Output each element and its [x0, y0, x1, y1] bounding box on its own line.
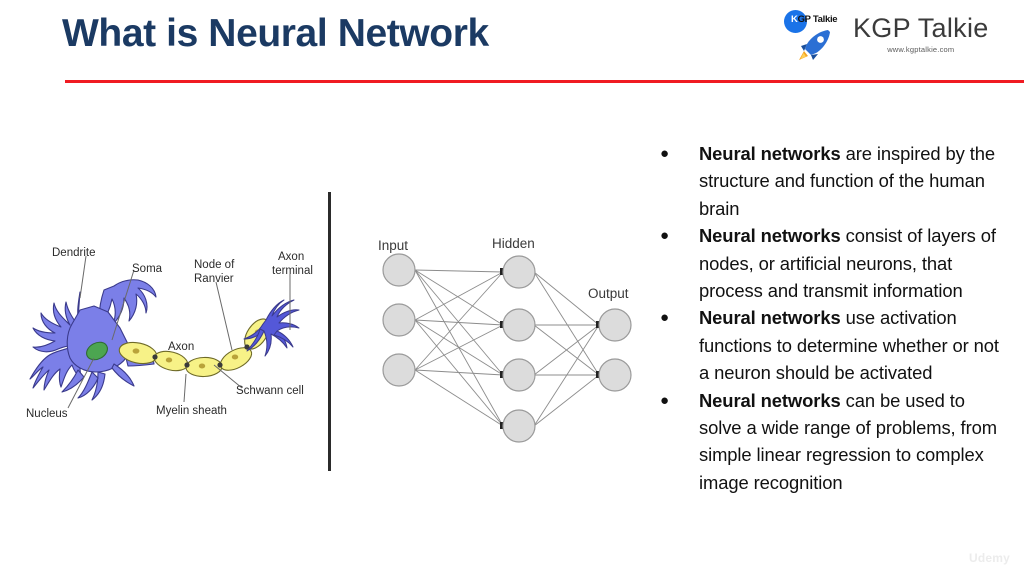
label-hidden-layer: Hidden: [492, 236, 535, 251]
soma-and-dendrites: [30, 280, 156, 400]
hidden-layer-nodes: [503, 256, 535, 442]
label-output-layer: Output: [588, 286, 629, 301]
label-axon-terminal-l2: terminal: [272, 265, 313, 277]
label-input-layer: Input: [378, 238, 408, 253]
neural-network-diagram: Input Hidden Output: [372, 232, 644, 444]
biological-neuron-diagram: Dendrite Soma Nucleus Node of Ranvier Ax…: [8, 232, 323, 428]
label-schwann-cell: Schwann cell: [236, 385, 304, 397]
page-title: What is Neural Network: [62, 12, 489, 56]
bullet-text: Neural networks consist of layers of nod…: [699, 222, 1010, 304]
output-layer-nodes: [599, 309, 631, 391]
label-axon-terminal-l1: Axon: [278, 251, 304, 263]
node-input-2: [383, 304, 415, 336]
list-item: ● Neural networks are inspired by the st…: [655, 140, 1010, 222]
bullet-text: Neural networks use activation functions…: [699, 304, 1010, 386]
node-input-1: [383, 254, 415, 286]
label-axon: Axon: [168, 341, 194, 353]
logo-mark: KGP Talkie: [782, 7, 844, 61]
node-input-3: [383, 354, 415, 386]
badge-text: KGP Talkie: [791, 14, 837, 25]
udemy-watermark: Udemy: [969, 551, 1010, 565]
badge-rest-letters: GP Talkie: [798, 14, 838, 25]
bullet-lead: Neural networks: [699, 225, 841, 246]
rocket-icon: [798, 28, 832, 61]
bullet-text: Neural networks can be used to solve a w…: [699, 387, 1010, 497]
node-output-1: [599, 309, 631, 341]
bullet-lead: Neural networks: [699, 143, 841, 164]
input-layer-nodes: [383, 254, 415, 386]
logo-wordmark: KGP Talkie www.kgptalkie.com: [853, 14, 989, 53]
vertical-panel-divider: [328, 192, 331, 471]
node-hidden-4: [503, 410, 535, 442]
node-hidden-1: [503, 256, 535, 288]
title-divider-rule: [65, 80, 1024, 83]
bullet-text: Neural networks are inspired by the stru…: [699, 140, 1010, 222]
label-nucleus: Nucleus: [26, 408, 68, 420]
connection-terminals: [500, 268, 601, 429]
list-item: ● Neural networks consist of layers of n…: [655, 222, 1010, 304]
bullet-marker-icon: ●: [655, 387, 699, 414]
bullet-marker-icon: ●: [655, 140, 699, 167]
node-output-2: [599, 359, 631, 391]
logo-url: www.kgptalkie.com: [887, 45, 954, 54]
list-item: ● Neural networks can be used to solve a…: [655, 387, 1010, 497]
bullet-lead: Neural networks: [699, 390, 841, 411]
bullet-marker-icon: ●: [655, 222, 699, 249]
label-myelin-sheath: Myelin sheath: [156, 405, 227, 417]
bullet-list: ● Neural networks are inspired by the st…: [655, 140, 1010, 496]
label-node-of-ranvier-l2: Ranvier: [194, 273, 234, 285]
label-soma: Soma: [132, 263, 163, 275]
label-dendrite: Dendrite: [52, 247, 95, 259]
node-hidden-2: [503, 309, 535, 341]
kgp-talkie-logo: KGP Talkie KGP Talkie www.kgptalkie.com: [782, 6, 1018, 62]
edges-input-to-hidden: [415, 270, 503, 426]
list-item: ● Neural networks use activation functio…: [655, 304, 1010, 386]
node-hidden-3: [503, 359, 535, 391]
bullet-lead: Neural networks: [699, 307, 841, 328]
label-node-of-ranvier-l1: Node of: [194, 259, 235, 271]
logo-name: KGP Talkie: [853, 14, 989, 42]
bullet-marker-icon: ●: [655, 304, 699, 331]
